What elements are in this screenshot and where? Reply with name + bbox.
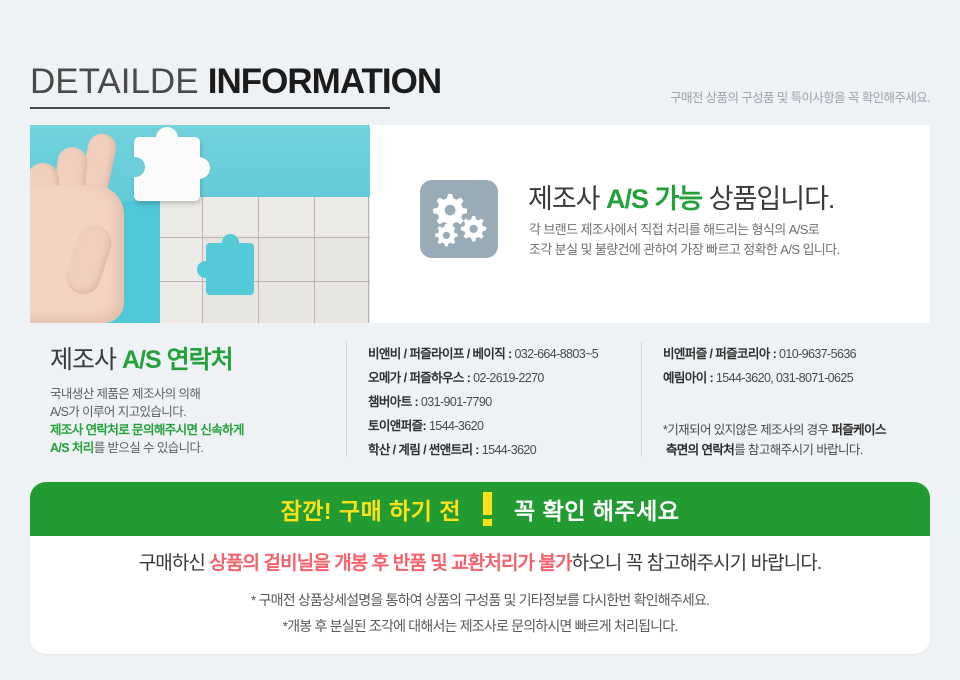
contact-brand: 챔버아트 : <box>368 395 418 409</box>
puzzle-grid-line <box>160 281 370 282</box>
hero-panel: 제조사 A/S 가능 상품입니다. 각 브랜드 제조사에서 직접 처리를 해드리… <box>370 125 930 323</box>
contact-brand: 예림아이 : <box>663 371 713 385</box>
title-underline <box>30 107 390 109</box>
notice-main-post: 하오니 꼭 참고해주시기 바랍니다. <box>572 553 822 574</box>
hero-subtext-line1: 각 브랜드 제조사에서 직접 처리를 해드리는 형식의 A/S로 <box>529 220 840 240</box>
contact-divider-1 <box>346 342 347 457</box>
hero-section: 제조사 A/S 가능 상품입니다. 각 브랜드 제조사에서 직접 처리를 해드리… <box>30 125 930 323</box>
contact-brand: 비앤비 / 퍼즐라이프 / 베이직 : <box>368 347 512 361</box>
contact-row: 비엔퍼즐 / 퍼즐코리아 : 010-9637-5636 <box>663 342 856 366</box>
puzzle-grid-line <box>160 237 370 238</box>
contact-desc-line1: 국내생산 제품은 제조사의 의해 <box>50 387 200 401</box>
page-title: DETAILDE INFORMATION <box>30 62 441 102</box>
purchase-notice-card: 잠깐! 구매 하기 전 꼭 확인 해주세요 구매하신 상품의 겉비닐을 개봉 후… <box>30 482 930 654</box>
contact-footnote: *기재되어 있지않은 제조사의 경우 퍼즐케이스 측면의 연락처를 참고해주시기… <box>663 420 886 460</box>
contact-desc-line4-highlight: A/S 처리 <box>50 441 94 455</box>
contact-footnote-line2-rest: 를 참고해주시기 바랍니다. <box>734 443 863 457</box>
notice-subtext: * 구매전 상품상세설명을 통하여 상품의 구성품 및 기타정보를 다시한번 확… <box>30 587 930 639</box>
contact-phone: 1544-3620 <box>429 419 483 433</box>
notice-main-text: 구매하신 상품의 겉비닐을 개봉 후 반품 및 교환처리가 불가하오니 꼭 참고… <box>30 548 930 575</box>
notice-subtext-line1: * 구매전 상품상세설명을 통하여 상품의 구성품 및 기타정보를 다시한번 확… <box>30 587 930 613</box>
contact-desc-line2: A/S가 이루어 지고있습니다. <box>50 405 186 419</box>
contact-brand: 학산 / 계림 / 썬앤트리 : <box>368 443 479 457</box>
notice-banner-yellow-text: 잠깐! 구매 하기 전 <box>281 492 461 526</box>
exclamation-dot <box>483 519 492 526</box>
contact-phone: 02-2619-2270 <box>473 371 544 385</box>
contact-brand: 오메가 / 퍼즐하우스 : <box>368 371 470 385</box>
piece-knob-right <box>188 157 210 179</box>
contact-footnote-line1-bold: 퍼즐케이스 <box>831 423 886 437</box>
contact-heading: 제조사 A/S 연락처 <box>50 340 320 376</box>
contact-phone: 1544-3620 <box>482 443 536 457</box>
puzzle-photo <box>30 125 370 323</box>
contact-desc-line3: 제조사 연락처로 문의해주시면 신속하게 <box>50 423 244 437</box>
notice-banner-content: 잠깐! 구매 하기 전 꼭 확인 해주세요 <box>30 482 930 536</box>
exclamation-mark-icon <box>483 492 492 526</box>
notice-subtext-line2: *개봉 후 분실된 조각에 대해서는 제조사로 문의하시면 빠르게 처리됩니다. <box>30 613 930 639</box>
contact-description: 국내생산 제품은 제조사의 의해 A/S가 이루어 지고있습니다. 제조사 연락… <box>50 385 320 457</box>
piece-notch-left <box>125 157 145 177</box>
contact-row: 비앤비 / 퍼즐라이프 / 베이직 : 032-664-8803~5 <box>368 342 598 366</box>
contact-footnote-line1-pre: *기재되어 있지않은 제조사의 경우 <box>663 423 831 437</box>
notice-banner: 잠깐! 구매 하기 전 꼭 확인 해주세요 <box>30 482 930 536</box>
puzzle-grid-line <box>368 197 369 323</box>
contact-row: 토이앤퍼즐: 1544-3620 <box>368 414 598 438</box>
contact-heading-pre: 제조사 <box>50 346 122 374</box>
contact-row: 챔버아트 : 031-901-7790 <box>368 390 598 414</box>
hero-heading-accent: A/S 가능 <box>606 184 702 214</box>
page-title-bold: INFORMATION <box>208 62 441 101</box>
contact-brand: 비엔퍼즐 / 퍼즐코리아 : <box>663 347 776 361</box>
puzzle-grid-line <box>202 197 203 323</box>
notice-main-highlight: 상품의 겉비닐을 개봉 후 반품 및 교환처리가 불가 <box>209 553 571 574</box>
contact-row: 예림아이 : 1544-3620, 031-8071-0625 <box>663 366 856 390</box>
piece-knob-top <box>156 127 178 149</box>
contact-footnote-line2: 측면의 연락처를 참고해주시기 바랍니다. <box>663 440 886 460</box>
hero-subtext: 각 브랜드 제조사에서 직접 처리를 해드리는 형식의 A/S로 조각 분실 및… <box>529 220 840 260</box>
hero-heading-post: 상품입니다. <box>702 184 834 214</box>
contact-list-middle: 비앤비 / 퍼즐라이프 / 베이직 : 032-664-8803~5 오메가 /… <box>368 342 598 462</box>
page-header: DETAILDE INFORMATION 구매전 상품의 구성품 및 특이사항을… <box>30 62 930 114</box>
contact-desc-line4-rest: 를 받으실 수 있습니다. <box>94 441 204 455</box>
gears-icon <box>420 180 498 258</box>
contact-divider-2 <box>641 342 642 457</box>
hero-heading: 제조사 A/S 가능 상품입니다. <box>528 177 834 216</box>
header-subtitle: 구매전 상품의 구성품 및 특이사항을 꼭 확인해주세요. <box>670 87 930 106</box>
contact-phone: 032-664-8803~5 <box>514 347 598 361</box>
notice-main-pre: 구매하신 <box>139 553 210 574</box>
contact-section: 제조사 A/S 연락처 국내생산 제품은 제조사의 의해 A/S가 이루어 지고… <box>30 332 930 467</box>
puzzle-grid-line <box>258 197 259 323</box>
held-puzzle-piece <box>134 137 200 201</box>
contact-intro: 제조사 A/S 연락처 국내생산 제품은 제조사의 의해 A/S가 이루어 지고… <box>50 340 320 457</box>
contact-phone: 010-9637-5636 <box>779 347 856 361</box>
notice-banner-white-text: 꼭 확인 해주세요 <box>514 492 679 526</box>
contact-phone: 031-901-7790 <box>421 395 492 409</box>
hero-heading-pre: 제조사 <box>528 184 606 214</box>
contact-phone: 1544-3620, 031-8071-0625 <box>716 371 853 385</box>
contact-row: 학산 / 계림 / 썬앤트리 : 1544-3620 <box>368 438 598 462</box>
puzzle-empty-slot <box>206 243 254 295</box>
contact-brand: 토이앤퍼즐: <box>368 419 426 433</box>
hero-subtext-line2: 조각 분실 및 불량건에 관하여 가장 빠르고 정확한 A/S 입니다. <box>529 240 840 260</box>
contact-footnote-line1: *기재되어 있지않은 제조사의 경우 퍼즐케이스 <box>663 420 886 440</box>
contact-footnote-line2-bold: 측면의 연락처 <box>666 443 734 457</box>
exclamation-bar <box>483 492 492 515</box>
puzzle-grid-line <box>314 197 315 323</box>
product-detail-page: DETAILDE INFORMATION 구매전 상품의 구성품 및 특이사항을… <box>0 0 960 680</box>
contact-list-right: 비엔퍼즐 / 퍼즐코리아 : 010-9637-5636 예림아이 : 1544… <box>663 342 856 390</box>
contact-row: 오메가 / 퍼즐하우스 : 02-2619-2270 <box>368 366 598 390</box>
contact-heading-accent: A/S 연락처 <box>122 346 233 374</box>
page-title-light: DETAILDE <box>30 62 199 101</box>
